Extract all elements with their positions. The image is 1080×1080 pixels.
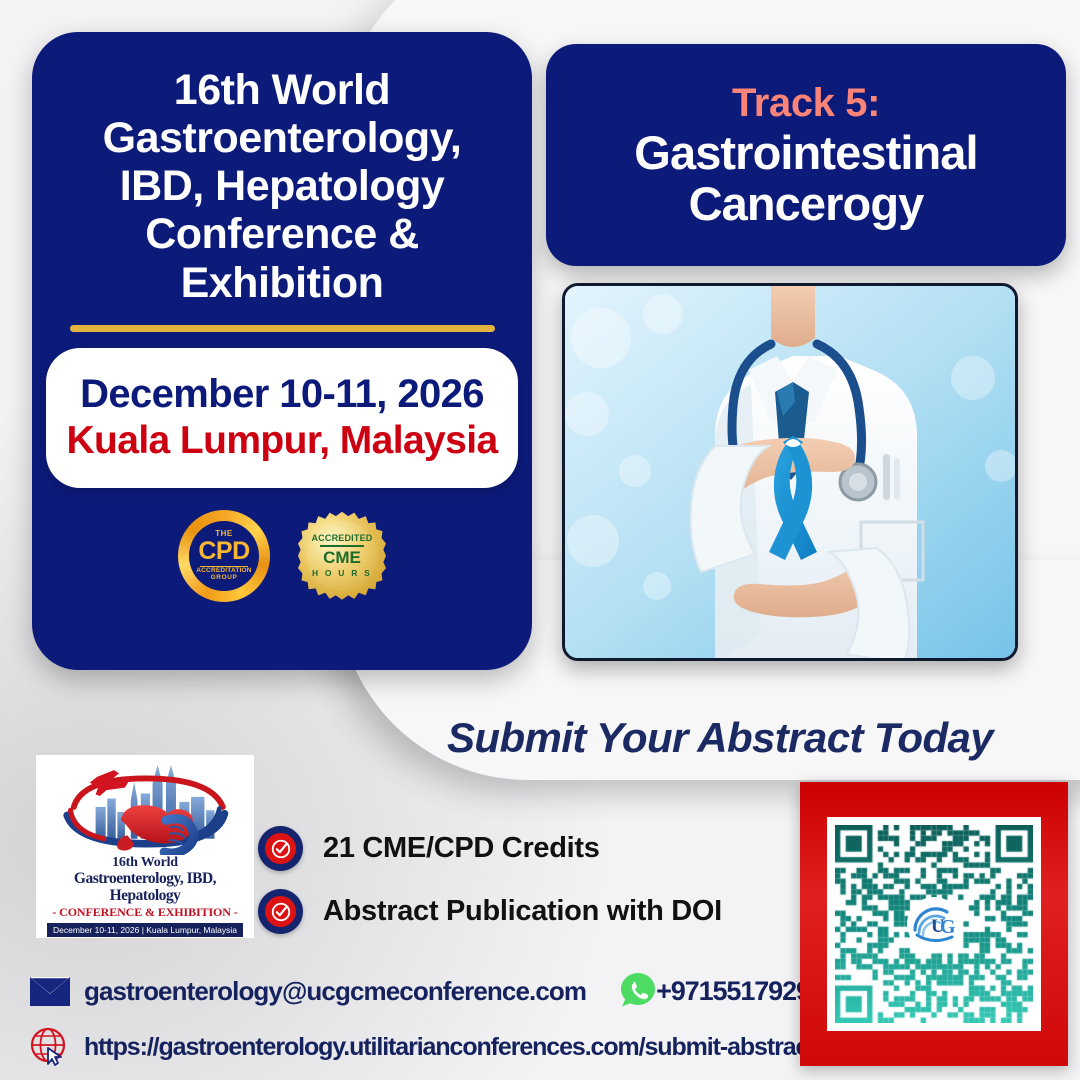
logo-caption-line-4: December 10-11, 2026 | Kuala Lumpur, Mal…	[47, 923, 243, 937]
conference-title: 16th World Gastroenterology, IBD, Hepato…	[103, 66, 462, 307]
cme-badge-hours: H O U R S	[312, 569, 372, 578]
website-row[interactable]: https://gastroenterology.utilitarianconf…	[28, 1026, 816, 1068]
cme-badge-cme: CME	[323, 549, 361, 566]
logo-caption-line-1: 16th World	[41, 855, 249, 871]
whatsapp-icon[interactable]	[620, 972, 656, 1010]
svg-text:G: G	[940, 916, 956, 938]
feature-list: 21 CME/CPD Credits Abstract Publication …	[258, 826, 722, 952]
cme-badge-accredited: ACCREDITED	[311, 534, 372, 543]
email-address[interactable]: gastroenterology@ucgcmeconference.com	[84, 976, 586, 1007]
submit-abstract-cta: Submit Your Abstract Today	[447, 714, 993, 762]
qr-code-surface[interactable]: U G	[827, 817, 1041, 1031]
website-url[interactable]: https://gastroenterology.utilitarianconf…	[84, 1033, 816, 1062]
doctor-ribbon-illustration	[565, 286, 1018, 661]
qr-center-logo: U G	[907, 897, 961, 951]
email-icon	[30, 977, 70, 1006]
track-number-label: Track 5:	[732, 81, 880, 126]
conference-date: December 10-11, 2026	[80, 372, 484, 417]
cme-accreditation-badge: ACCREDITED CME H O U R S	[298, 512, 386, 600]
track-topic-name: Gastrointestinal Cancerogy	[634, 128, 977, 229]
cpd-badge-acronym: CPD	[198, 539, 249, 564]
date-location-box: December 10-11, 2026 Kuala Lumpur, Malay…	[46, 348, 518, 488]
track-title-card: Track 5: Gastrointestinal Cancerogy	[546, 44, 1066, 266]
conference-title-line-1: 16th World	[103, 66, 462, 114]
cme-badge-face: ACCREDITED CME H O U R S	[307, 521, 377, 591]
qr-code-block[interactable]: U G	[800, 782, 1068, 1066]
accreditation-badges: THE CPD ACCREDITATION GROUP ACCREDITED C…	[178, 510, 386, 602]
logo-caption-line-3: - CONFERENCE & EXHIBITION -	[41, 905, 249, 920]
feature-label: 21 CME/CPD Credits	[323, 832, 600, 865]
check-circle-inner	[265, 833, 296, 864]
list-item: Abstract Publication with DOI	[258, 889, 722, 934]
conference-location: Kuala Lumpur, Malaysia	[66, 419, 497, 463]
logo-caption-line-2: Gastroenterology, IBD, Hepatology	[41, 871, 249, 904]
conference-title-line-4: Conference &	[103, 210, 462, 258]
conference-title-line-5: Exhibition	[103, 259, 462, 307]
check-circle-inner	[265, 896, 296, 927]
conference-info-card: 16th World Gastroenterology, IBD, Hepato…	[32, 32, 532, 670]
globe-icon	[28, 1026, 70, 1068]
cpd-badge-face: THE CPD ACCREDITATION GROUP	[189, 521, 259, 591]
cme-badge-rule	[320, 545, 364, 547]
track-topic-line-1: Gastrointestinal	[634, 128, 977, 178]
conference-logo-caption: 16th World Gastroenterology, IBD, Hepato…	[36, 855, 254, 938]
feature-label: Abstract Publication with DOI	[323, 895, 722, 928]
check-circle-icon	[258, 826, 303, 871]
gold-divider	[70, 325, 495, 332]
cpd-badge-subtitle-2: GROUP	[211, 575, 238, 582]
ucg-logo-icon: U G	[909, 899, 959, 949]
checkmark-icon	[270, 901, 292, 923]
check-circle-icon	[258, 889, 303, 934]
conference-title-line-2: Gastroenterology,	[103, 114, 462, 162]
doctor-ribbon-photo	[562, 283, 1018, 661]
conference-title-line-3: IBD, Hepatology	[103, 162, 462, 210]
checkmark-icon	[270, 838, 292, 860]
contact-row: gastroenterology@ucgcmeconference.com +9…	[30, 972, 838, 1010]
cpd-accreditation-badge: THE CPD ACCREDITATION GROUP	[178, 510, 270, 602]
list-item: 21 CME/CPD Credits	[258, 826, 722, 871]
track-topic-line-2: Cancerogy	[634, 179, 977, 229]
conference-logo-emblem	[42, 755, 248, 855]
conference-logo: 16th World Gastroenterology, IBD, Hepato…	[36, 755, 254, 938]
